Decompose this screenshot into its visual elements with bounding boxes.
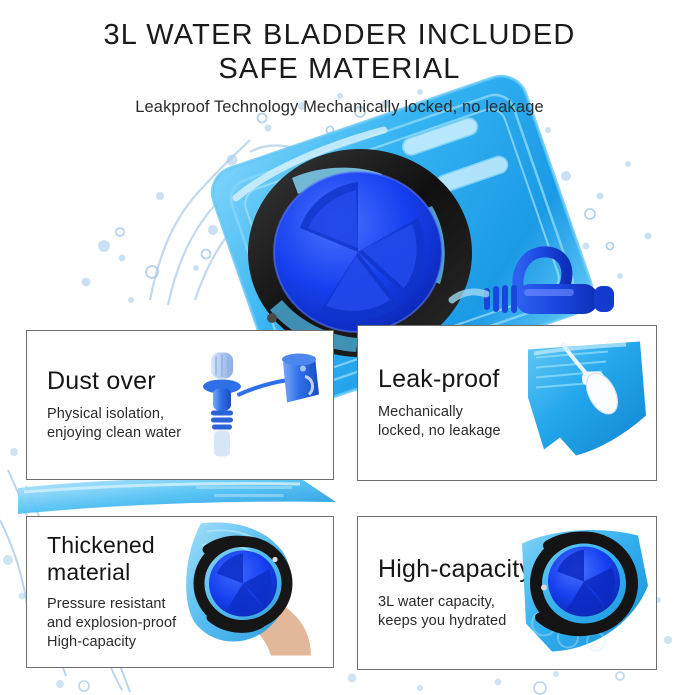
dust-cap — [282, 354, 319, 403]
bladder-lower-edge — [18, 477, 336, 514]
bladder-corner-valve-image — [522, 338, 650, 469]
feature-card-thickened-material: Thickened material Pressure resistant an… — [26, 516, 334, 668]
bite-valve-with-dust-cover-image — [187, 343, 327, 468]
feature-card-leak-proof: Leak-proof Mechanically locked, no leaka… — [357, 325, 657, 481]
product-feature-infographic: 3L WATER BLADDER INCLUDED SAFE MATERIAL … — [0, 0, 679, 695]
header-subtitle: Leakproof Technology Mechanically locked… — [0, 98, 679, 117]
headline-line-2: SAFE MATERIAL — [0, 52, 679, 86]
feature-card-dust-over: Dust over Physical isolation, enjoying c… — [26, 330, 334, 480]
headline-line-1: 3L WATER BLADDER INCLUDED — [0, 18, 679, 52]
bite-valve — [203, 353, 241, 457]
bladder-cap-closeup-image — [522, 526, 650, 661]
header-block: 3L WATER BLADDER INCLUDED SAFE MATERIAL … — [0, 18, 679, 117]
hand-holding-bladder-image — [177, 520, 327, 665]
feature-card-high-capacity: High-capacity 3L water capacity, keeps y… — [357, 516, 657, 670]
